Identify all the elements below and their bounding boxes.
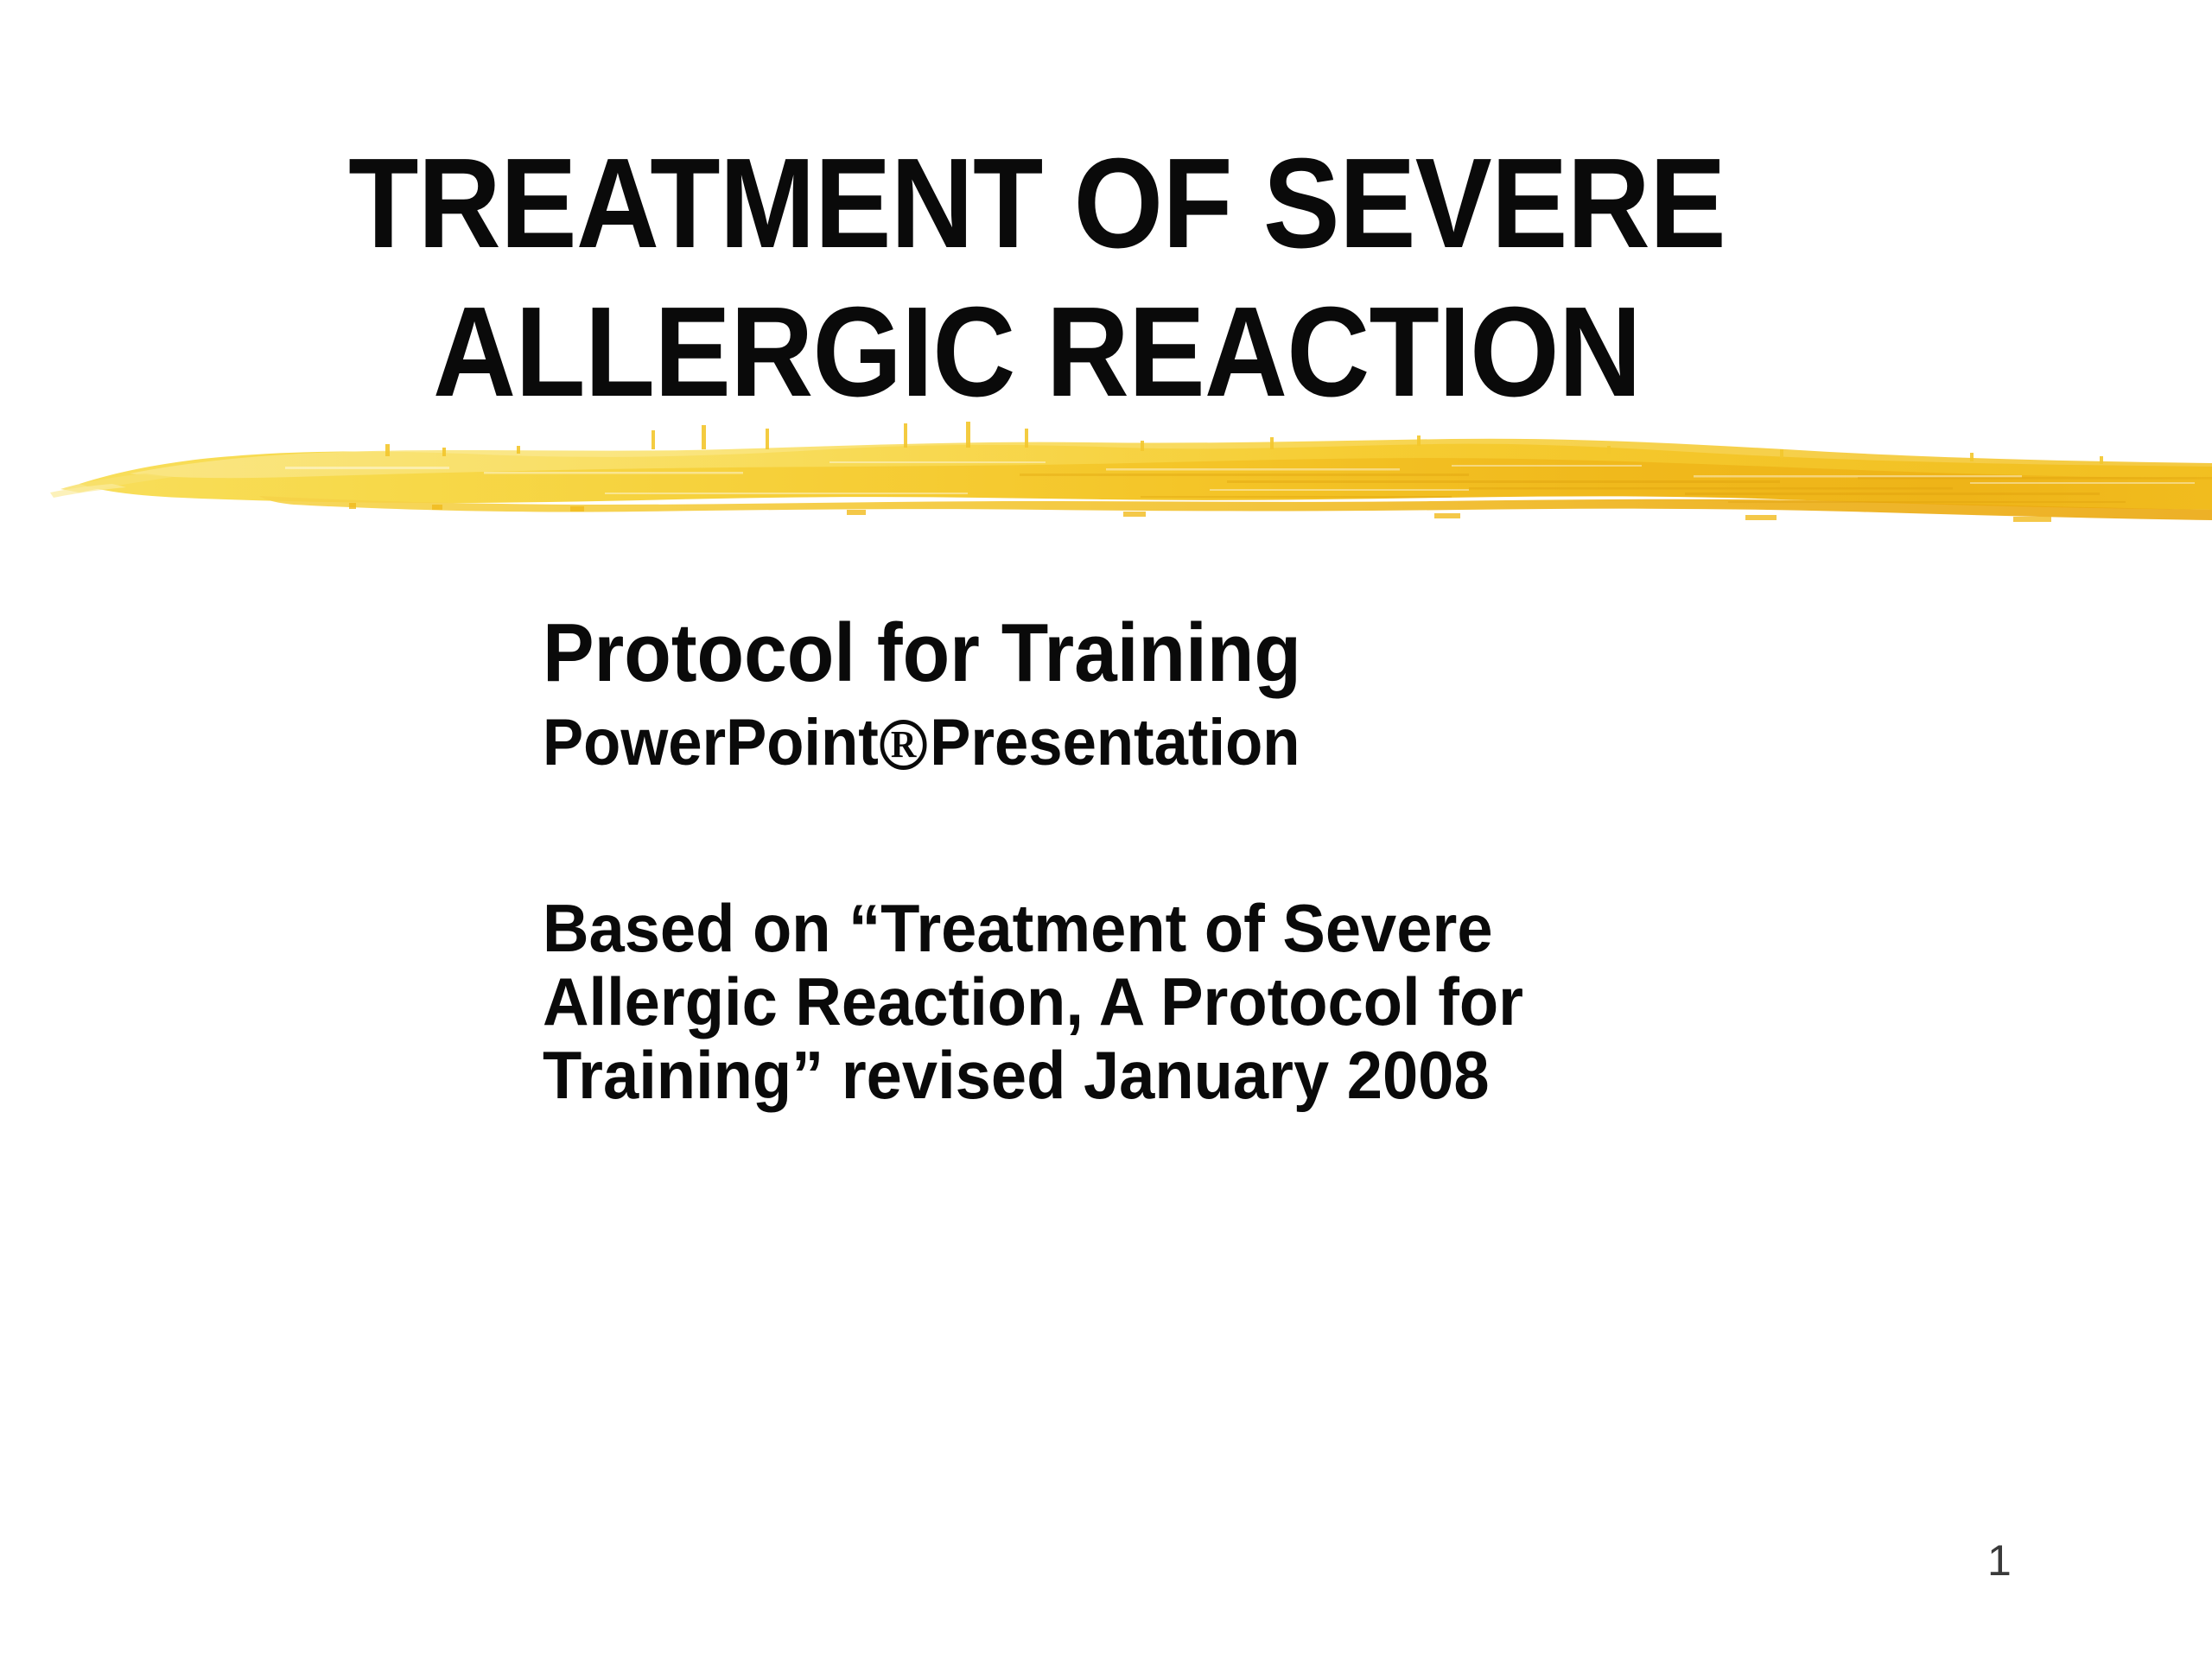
subtitle-block: Protocol for Training PowerPointRPresent… [543, 605, 2012, 785]
page-number: 1 [1987, 1536, 2056, 1585]
subtitle-secondary-prefix: PowerPoint [543, 702, 879, 785]
source-attribution-line-3: Training” revised January 2008 [543, 1039, 1897, 1112]
slide-canvas: TREATMENT OF SEVERE ALLERGIC REACTION [0, 0, 2212, 1659]
source-attribution-line-2: Allergic Reaction, A Protocol for [543, 965, 1897, 1039]
subtitle-main: Protocol for Training [543, 605, 1909, 702]
subtitle-secondary: PowerPointRPresentation [543, 702, 1909, 785]
source-attribution-line-1: Based on “Treatment of Severe [543, 892, 1897, 965]
title-line-2: ALLERGIC REACTION [104, 278, 1970, 427]
source-attribution-block: Based on “Treatment of Severe Allergic R… [543, 892, 1968, 1112]
registered-trademark-icon: R [880, 720, 927, 770]
page-title: TREATMENT OF SEVERE ALLERGIC REACTION [0, 130, 2074, 427]
title-line-1: TREATMENT OF SEVERE [104, 130, 1970, 278]
brush-stroke-icon [0, 406, 2212, 544]
subtitle-secondary-suffix: Presentation [930, 702, 1300, 785]
yellow-brush-stroke-divider [0, 406, 2212, 544]
